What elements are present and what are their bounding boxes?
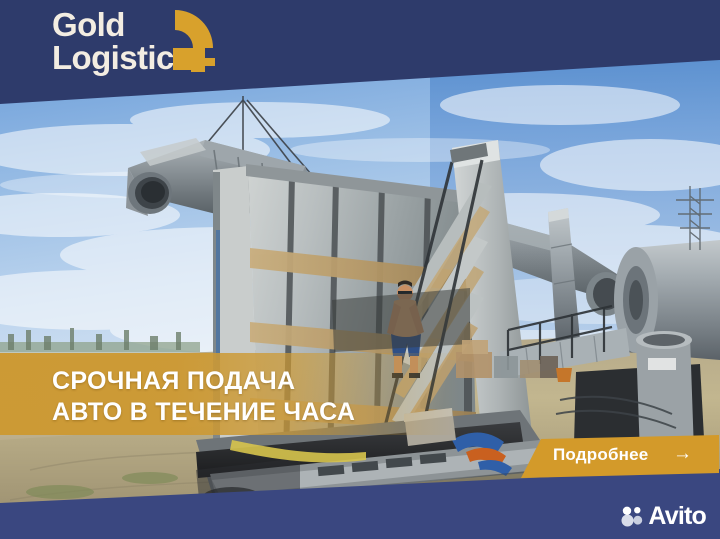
brand-logo[interactable]: Gold Logistic bbox=[52, 8, 219, 74]
avito-watermark: Avito bbox=[621, 504, 706, 529]
headline-text: СРОЧНАЯ ПОДАЧА АВТО В ТЕЧЕНИЕ ЧАСА bbox=[52, 366, 355, 428]
brand-logo-line1: Gold bbox=[52, 6, 125, 43]
avito-wordmark: Avito bbox=[648, 504, 706, 529]
headline-line2: АВТО В ТЕЧЕНИЕ ЧАСА bbox=[52, 397, 355, 428]
headline-line1: СРОЧНАЯ ПОДАЧА bbox=[52, 367, 295, 395]
brand-logo-line2: Logistic bbox=[52, 41, 174, 74]
gold-arrow-mark-icon bbox=[171, 8, 219, 74]
learn-more-button[interactable]: Подробнее → bbox=[521, 435, 719, 478]
arrow-right-icon: → bbox=[673, 444, 692, 464]
avito-dots-icon bbox=[621, 506, 643, 528]
learn-more-label: Подробнее bbox=[553, 445, 648, 465]
brand-logo-text: Gold Logistic bbox=[52, 8, 174, 74]
advertisement-banner: Gold Logistic СРОЧНАЯ ПОДАЧА АВТО В ТЕЧЕ… bbox=[0, 0, 720, 539]
